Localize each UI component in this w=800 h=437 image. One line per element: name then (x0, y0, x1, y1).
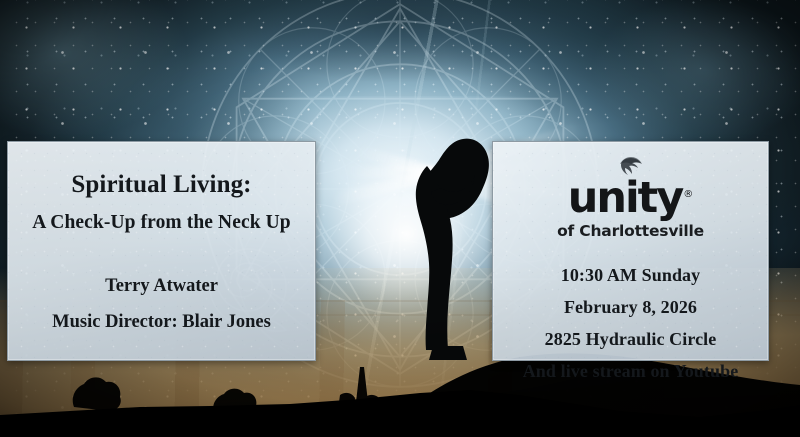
sermon-title-line-1: Spiritual Living: (8, 171, 315, 199)
unity-wordmark: unity® (568, 177, 694, 220)
registered-trademark-icon: ® (683, 189, 693, 200)
speaker-name: Terry Atwater (8, 276, 315, 297)
event-details-panel: unity® of Charlottesville 10:30 AM Sunda… (492, 141, 769, 361)
event-time: 10:30 AM Sunday (493, 266, 768, 284)
event-address: 2825 Hydraulic Circle (493, 330, 768, 348)
sermon-info-panel: Spiritual Living: A Check-Up from the Ne… (7, 141, 316, 361)
event-detail-list: 10:30 AM Sunday February 8, 2026 2825 Hy… (493, 266, 768, 380)
event-date: February 8, 2026 (493, 298, 768, 316)
sermon-title-line-2: A Check-Up from the Neck Up (8, 212, 315, 234)
event-livestream-note: And live stream on Youtube (493, 362, 768, 380)
unity-logo-subtitle: of Charlottesville (557, 222, 704, 240)
service-announcement-poster: Spiritual Living: A Check-Up from the Ne… (0, 0, 800, 437)
unity-wordmark-text: unity (568, 173, 683, 223)
music-director-name: Music Director: Blair Jones (8, 312, 315, 333)
unity-logo: unity® of Charlottesville (493, 156, 768, 240)
